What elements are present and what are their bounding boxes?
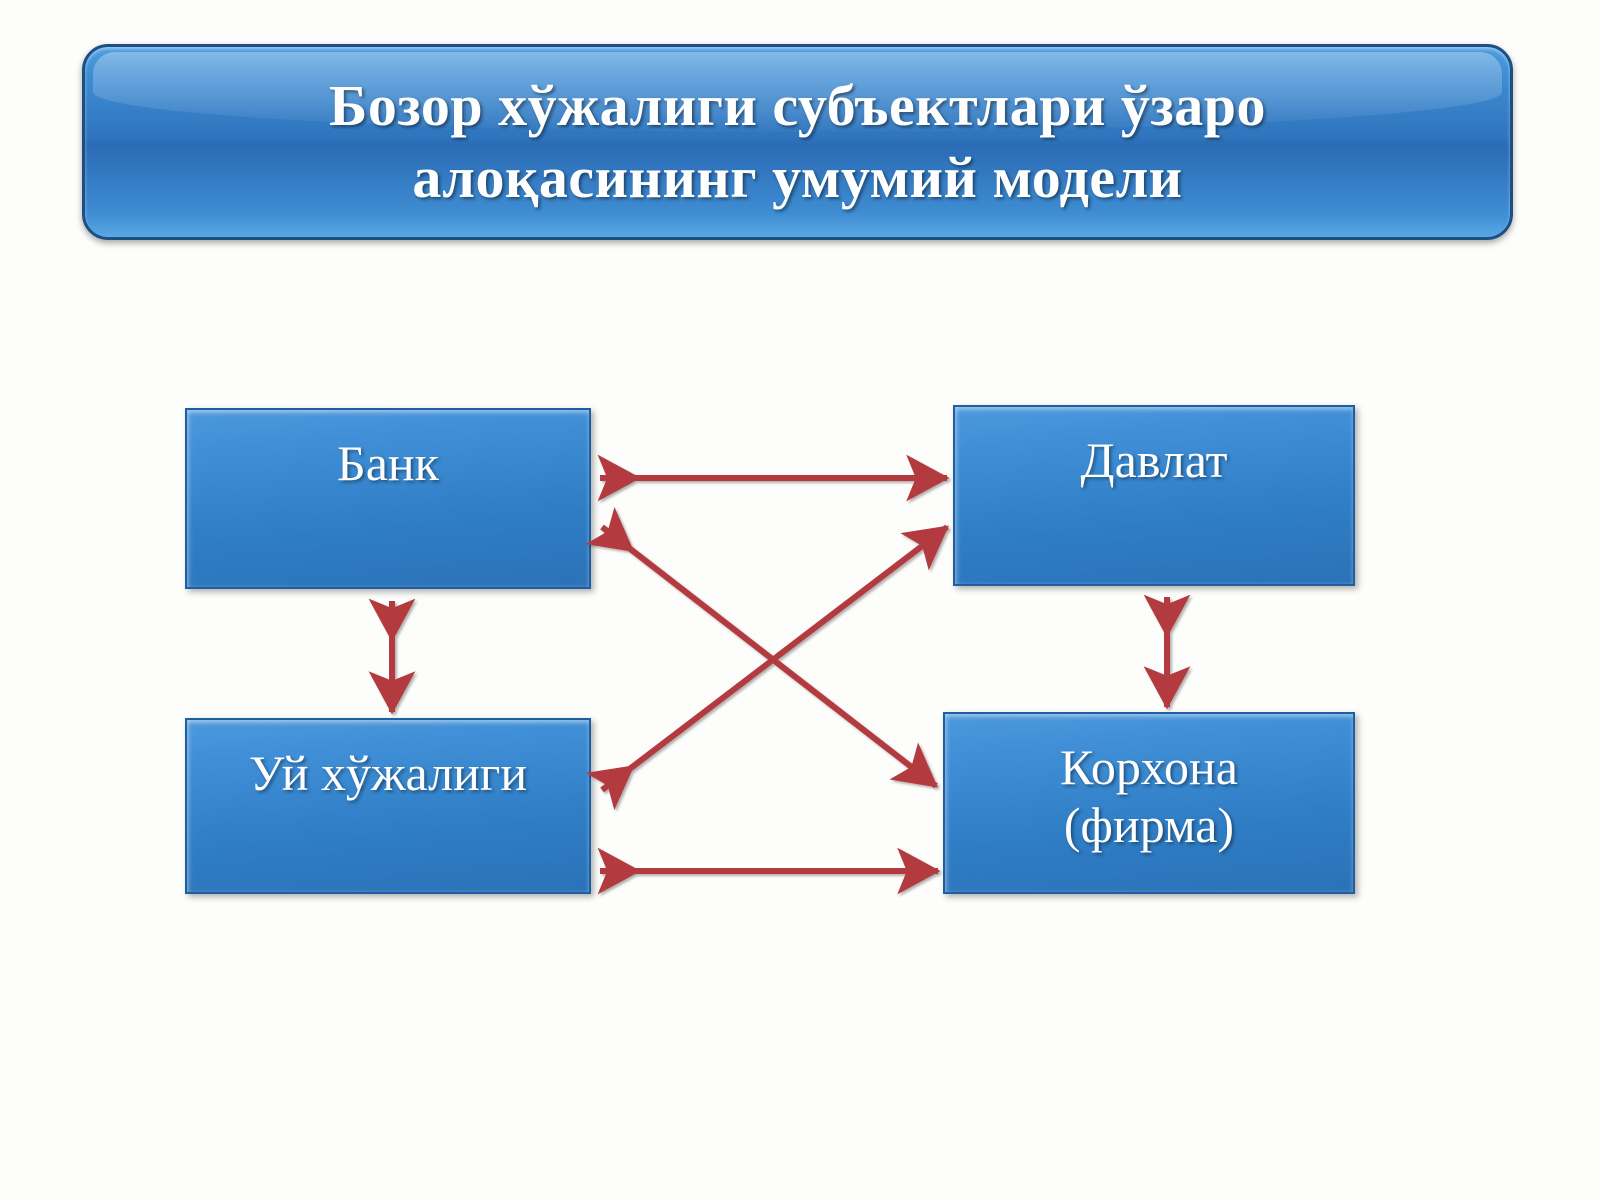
node-household-label: Уй хўжалиги [249, 745, 527, 801]
title-line-1: Бозор хўжалиги субъектлари ўзаро [329, 73, 1266, 138]
connector-household-davlat [602, 527, 947, 790]
node-bank[interactable]: Банк [185, 408, 591, 589]
node-firm-label-line-1: Корхона [1060, 739, 1238, 795]
node-davlat[interactable]: Давлат [953, 405, 1355, 586]
title-line-2: алоқасининг умумий модели [412, 145, 1182, 210]
node-firm-label-line-2: (фирма) [1064, 797, 1234, 853]
node-bank-label: Банк [337, 435, 439, 491]
node-household[interactable]: Уй хўжалиги [185, 718, 591, 894]
page-title: Бозор хўжалиги субъектлари ўзаро алоқаси… [289, 70, 1306, 214]
node-firm[interactable]: Корхона (фирма) [943, 712, 1355, 894]
title-banner: Бозор хўжалиги субъектлари ўзаро алоқаси… [82, 44, 1513, 240]
connector-bank-firm [602, 527, 936, 786]
slide-canvas: Бозор хўжалиги субъектлари ўзаро алоқаси… [0, 0, 1600, 1200]
node-davlat-label: Давлат [1081, 432, 1228, 488]
